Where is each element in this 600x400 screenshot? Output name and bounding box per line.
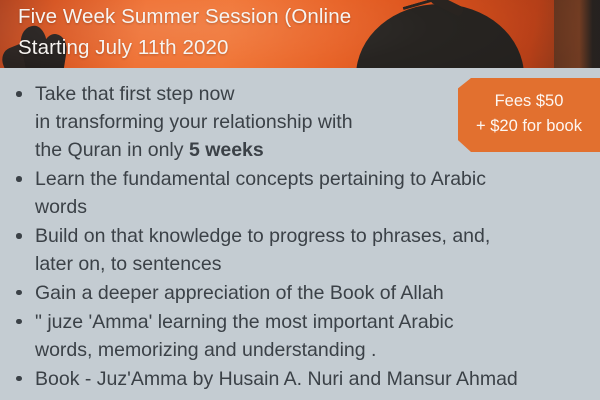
presentation-slide: Five Week Summer Session (Online Startin… (0, 0, 600, 400)
list-item-line: the Quran in only 5 weeks (35, 136, 600, 164)
list-item: Gain a deeper appreciation of the Book o… (0, 279, 600, 307)
list-item-line: Book - Juz'Amma by Husain A. Nuri and Ma… (35, 365, 600, 393)
list-item-line: words (35, 193, 600, 221)
course-highlights-list: Take that first step nowin transforming … (0, 80, 600, 393)
list-item: Take that first step nowin transforming … (0, 80, 600, 165)
list-item-line: Take that first step now (35, 80, 600, 108)
list-item-line: Learn the fundamental concepts pertainin… (35, 165, 600, 193)
emphasised-text: 5 weeks (189, 139, 264, 161)
list-item: " juze 'Amma' learning the most importan… (0, 308, 600, 364)
list-item-line: words, memorizing and understanding . (35, 336, 600, 364)
list-item-line: in transforming your relationship with (35, 108, 600, 136)
list-item-line: " juze 'Amma' learning the most importan… (35, 308, 600, 336)
list-item: Build on that knowledge to progress to p… (0, 222, 600, 278)
slide-header-banner: Five Week Summer Session (Online Startin… (0, 0, 600, 68)
slide-title: Five Week Summer Session (Online Startin… (18, 1, 458, 63)
list-item: Learn the fundamental concepts pertainin… (0, 165, 600, 221)
list-item: Book - Juz'Amma by Husain A. Nuri and Ma… (0, 365, 600, 393)
list-item-line: later on, to sentences (35, 250, 600, 278)
list-item-line: Gain a deeper appreciation of the Book o… (35, 279, 600, 307)
list-item-line: Build on that knowledge to progress to p… (35, 222, 600, 250)
